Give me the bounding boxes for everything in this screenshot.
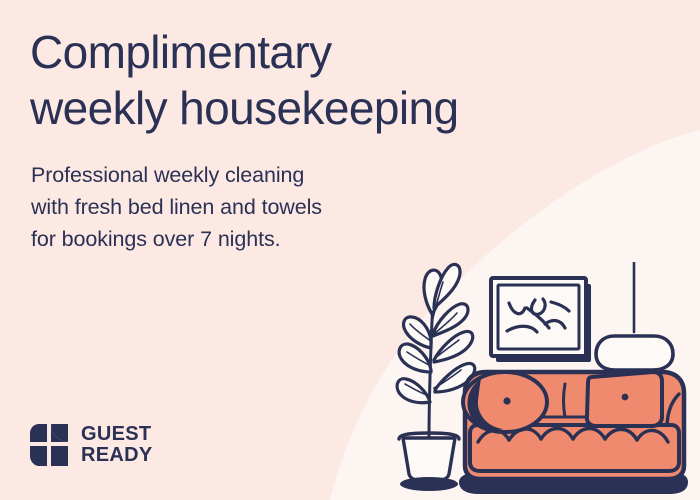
sofa [459, 372, 688, 494]
framed-picture [491, 278, 591, 362]
subtitle-text: Professional weekly cleaning with fresh … [31, 160, 461, 255]
guestready-square-mark [30, 424, 70, 466]
page-title: Complimentary weekly housekeeping [30, 24, 630, 136]
round-cushion [463, 372, 547, 432]
promo-banner: Complimentary weekly housekeeping Profes… [0, 0, 700, 500]
square-cushion [587, 372, 662, 426]
logo-wordmark: GUEST READY [81, 424, 153, 466]
guestready-logo[interactable]: GUEST READY [30, 424, 153, 466]
living-room-illustration [385, 262, 700, 500]
